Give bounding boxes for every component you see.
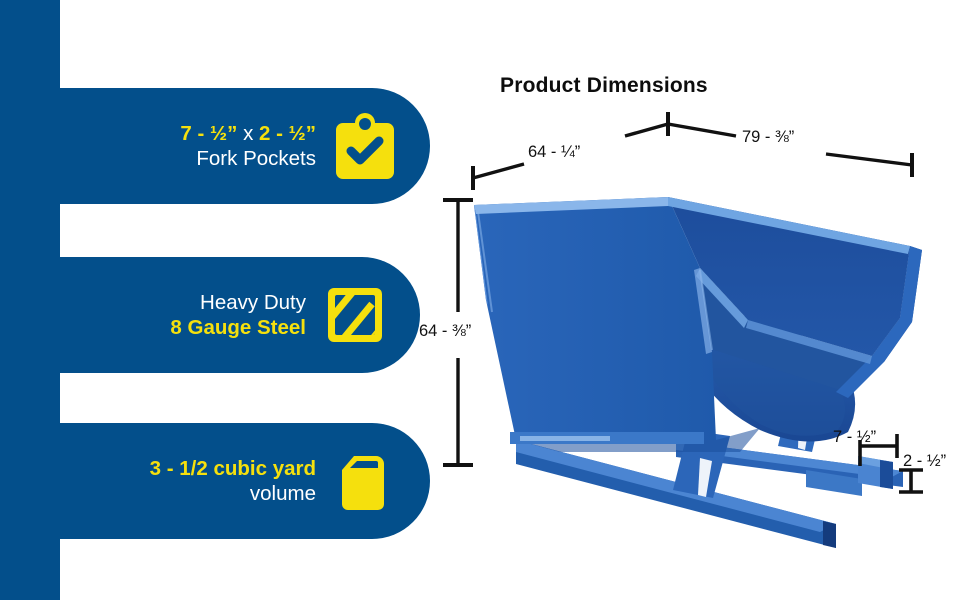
- steel-plate-icon: [324, 282, 386, 348]
- hopper-belly: [690, 310, 855, 442]
- hopper-gussets: [673, 396, 824, 498]
- fork-pocket-tube: [858, 456, 893, 489]
- hopper-body: [474, 197, 922, 452]
- feature-value-b: 2 - ½”: [259, 122, 316, 145]
- feature-value-a: 7 - ½”: [180, 122, 237, 145]
- dimension-lines: [443, 112, 912, 465]
- clipboard-check-icon: [334, 113, 396, 179]
- feature-line-1: 3 - 1/2 cubic yard: [150, 456, 316, 481]
- feature-text-fork-pockets: 7 - ½” x 2 - ½” Fork Pockets: [180, 121, 316, 172]
- feature-pill-fork-pockets: 7 - ½” x 2 - ½” Fork Pockets: [0, 88, 430, 204]
- fork-pocket-height-dimension: [899, 470, 923, 492]
- feature-line-2: 8 Gauge Steel: [170, 315, 306, 340]
- dimension-label-top-left: 64 - ¼”: [528, 143, 580, 162]
- hopper-bin-icon: [334, 448, 396, 514]
- dimension-label-top-right: 79 - ⅜”: [742, 128, 794, 147]
- feature-text-volume: 3 - 1/2 cubic yard volume: [150, 456, 316, 507]
- hopper-base-rails: [516, 440, 903, 548]
- feature-line-2: volume: [150, 481, 316, 506]
- feature-pill-gauge-steel: Heavy Duty 8 Gauge Steel: [0, 257, 420, 373]
- feature-pill-volume: 3 - 1/2 cubic yard volume: [0, 423, 430, 539]
- infographic-canvas: 7 - ½” x 2 - ½” Fork Pockets Heavy Duty …: [0, 0, 970, 600]
- dimension-label-fork-height: 2 - ½”: [903, 452, 946, 471]
- feature-line-1: 7 - ½” x 2 - ½”: [180, 121, 316, 146]
- diagram-title: Product Dimensions: [500, 74, 708, 98]
- feature-text-gauge-steel: Heavy Duty 8 Gauge Steel: [170, 290, 306, 341]
- feature-sep: x: [237, 122, 259, 145]
- feature-line-2: Fork Pockets: [180, 146, 316, 171]
- dimension-label-fork-width: 7 - ½”: [833, 428, 876, 447]
- dimension-label-height: 64 - ⅜”: [419, 322, 471, 341]
- feature-line-1: Heavy Duty: [170, 290, 306, 315]
- hopper-highlights: [478, 212, 712, 350]
